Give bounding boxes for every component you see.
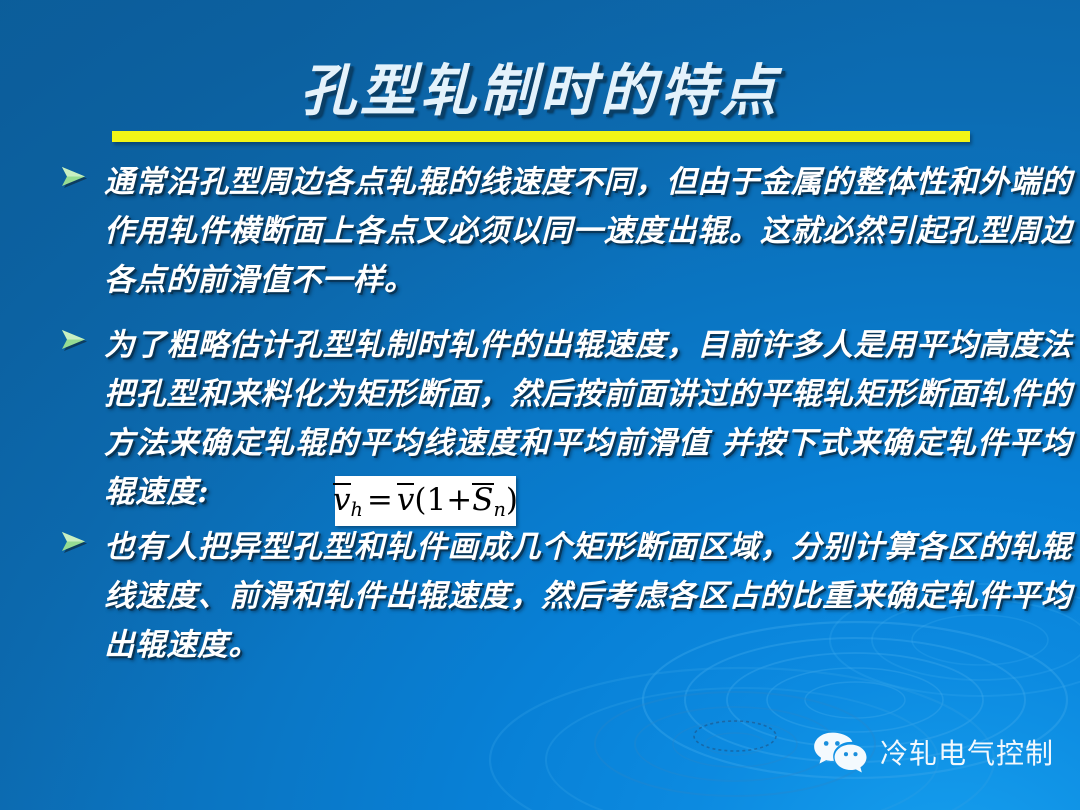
formula-open-paren: (	[414, 482, 426, 518]
list-item-text: 通常沿孔型周边各点轧辊的线速度不同，但由于金属的整体性和外端的作用轧件横断面上各…	[104, 158, 1072, 305]
list-item-text: 也有人把异型孔型和轧件画成几个矩形断面区域，分别计算各区的轧辊线速度、前滑和轧件…	[104, 523, 1072, 670]
watermark-label: 冷轧电气控制	[880, 732, 1054, 772]
formula-lhs: v	[333, 483, 351, 516]
slide-body: 通常沿孔型周边各点轧辊的线速度不同，但由于金属的整体性和外端的作用轧件横断面上各…	[58, 158, 1072, 686]
list-item-text: 为了粗略估计孔型轧制时轧件的出辊速度，目前许多人是用平均高度法把孔型和来料化为矩…	[104, 321, 1072, 517]
list-item: 为了粗略估计孔型轧制时轧件的出辊速度，目前许多人是用平均高度法把孔型和来料化为矩…	[58, 321, 1072, 517]
formula-expression: vh=v(1+Sn)	[333, 483, 518, 519]
formula-lhs-sub: h	[351, 498, 363, 521]
watermark: 冷轧电气控制	[812, 730, 1054, 774]
wechat-icon	[812, 730, 868, 774]
arrow-right-triangle-icon	[58, 164, 104, 204]
page-title: 孔型轧制时的特点	[0, 46, 1080, 127]
formula-rhs-var2: S	[472, 483, 493, 516]
title-divider	[112, 131, 970, 142]
formula-box: vh=v(1+Sn)	[335, 476, 516, 526]
formula-lhs-var: v	[333, 482, 351, 518]
formula-rhs-sub2: n	[494, 498, 506, 521]
formula-one: 1	[427, 482, 447, 518]
slide-canvas: 孔型轧制时的特点 通常沿孔型周边各点轧辊的线速度不同，但由于金属的整体性和外端的…	[0, 0, 1080, 810]
formula-equals: =	[367, 482, 393, 518]
arrow-right-triangle-icon	[58, 529, 104, 569]
formula-plus: +	[446, 482, 472, 518]
list-item-text-before-formula: 为了粗略估计孔型轧制时轧件的出辊速度，目前许多人是用平均高度法把孔型和来料化为矩…	[104, 327, 1072, 510]
list-item: 通常沿孔型周边各点轧辊的线速度不同，但由于金属的整体性和外端的作用轧件横断面上各…	[58, 158, 1072, 305]
formula-rhs-var: v	[397, 483, 415, 516]
arrow-right-triangle-icon	[58, 327, 104, 367]
formula-close-paren: )	[506, 482, 518, 518]
list-item: 也有人把异型孔型和轧件画成几个矩形断面区域，分别计算各区的轧辊线速度、前滑和轧件…	[58, 523, 1072, 670]
